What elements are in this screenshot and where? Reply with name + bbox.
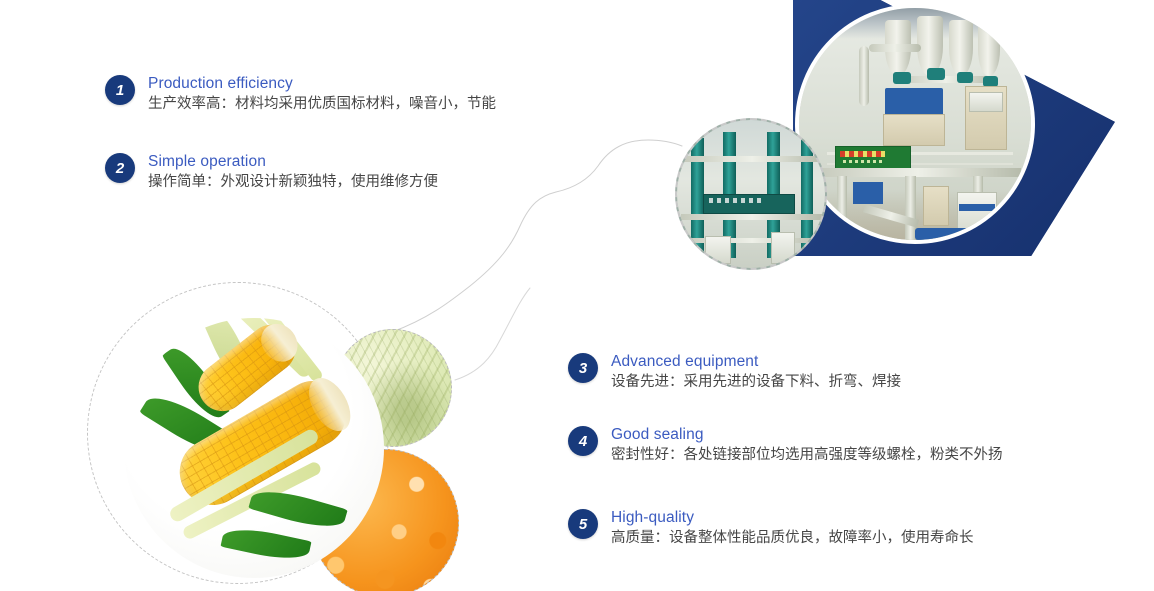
- feature-item-5[interactable]: 5 High-quality 高质量：设备整体性能品质优良，故障率小，使用寿命长: [568, 508, 974, 549]
- feature-title-en-3: Advanced equipment: [611, 352, 901, 371]
- feature-title-cn-1: 生产效率高：材料均采用优质国标材料，噪音小，节能: [148, 94, 496, 115]
- product-advantages-infographic: 1 Production efficiency 生产效率高：材料均采用优质国标材…: [0, 0, 1154, 591]
- feature-title-cn-4: 密封性好：各处链接部位均选用高强度等级螺栓，粉类不外扬: [611, 445, 1003, 466]
- feature-item-1[interactable]: 1 Production efficiency 生产效率高：材料均采用优质国标材…: [105, 74, 496, 115]
- corn-cob-photo: [124, 318, 384, 578]
- feature-item-4[interactable]: 4 Good sealing 密封性好：各处链接部位均选用高强度等级螺栓，粉类不…: [568, 425, 1003, 466]
- feature-text-5: High-quality 高质量：设备整体性能品质优良，故障率小，使用寿命长: [611, 508, 974, 549]
- feature-badge-5: 5: [568, 509, 598, 539]
- flour-mill-illustration: [797, 6, 1033, 242]
- feature-text-4: Good sealing 密封性好：各处链接部位均选用高强度等级螺栓，粉类不外扬: [611, 425, 1003, 466]
- factory-photo-small: [675, 118, 827, 270]
- maize-mill-illustration: [675, 118, 827, 270]
- feature-text-1: Production efficiency 生产效率高：材料均采用优质国标材料，…: [148, 74, 496, 115]
- feature-text-3: Advanced equipment 设备先进：采用先进的设备下料、折弯、焊接: [611, 352, 901, 393]
- factory-small-banner: [703, 194, 795, 214]
- feature-title-cn-5: 高质量：设备整体性能品质优良，故障率小，使用寿命长: [611, 528, 974, 549]
- feature-badge-2: 2: [105, 153, 135, 183]
- feature-title-en-1: Production efficiency: [148, 74, 496, 93]
- feature-badge-3: 3: [568, 353, 598, 383]
- factory-banner: [835, 146, 911, 170]
- factory-photo-large: [795, 4, 1035, 244]
- feature-badge-1: 1: [105, 75, 135, 105]
- feature-badge-4: 4: [568, 426, 598, 456]
- feature-title-en-4: Good sealing: [611, 425, 1003, 444]
- feature-text-2: Simple operation 操作简单：外观设计新颖独特，使用维修方便: [148, 152, 438, 193]
- feature-item-3[interactable]: 3 Advanced equipment 设备先进：采用先进的设备下料、折弯、焊…: [568, 352, 901, 393]
- feature-title-en-5: High-quality: [611, 508, 974, 527]
- feature-title-cn-2: 操作简单：外观设计新颖独特，使用维修方便: [148, 172, 438, 193]
- feature-title-cn-3: 设备先进：采用先进的设备下料、折弯、焊接: [611, 372, 901, 393]
- feature-item-2[interactable]: 2 Simple operation 操作简单：外观设计新颖独特，使用维修方便: [105, 152, 438, 193]
- feature-title-en-2: Simple operation: [148, 152, 438, 171]
